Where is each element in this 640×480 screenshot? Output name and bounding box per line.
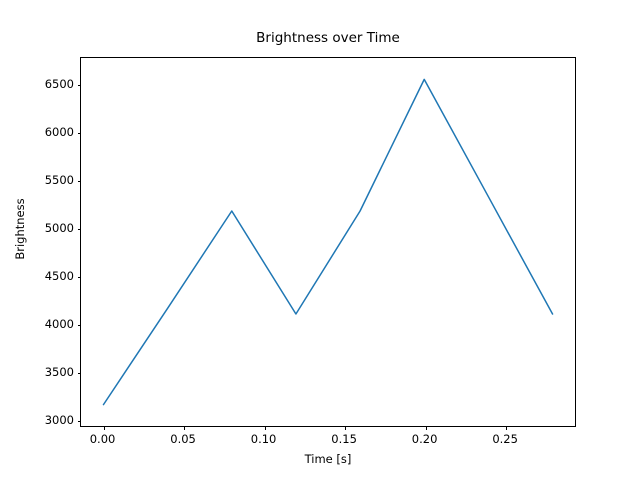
y-tick-label: 3000 [45, 413, 74, 427]
y-tick-label: 6000 [45, 125, 74, 139]
x-tick-label: 0.10 [251, 432, 277, 446]
x-tick-mark [506, 426, 507, 430]
line-chart-svg [81, 58, 575, 426]
y-tick-label: 4500 [45, 269, 74, 283]
y-tick-mark [78, 229, 82, 230]
x-tick-mark [104, 426, 105, 430]
y-tick-mark [78, 373, 82, 374]
y-tick-label: 3500 [45, 365, 74, 379]
y-tick-mark [78, 181, 82, 182]
y-tick-label: 6500 [45, 77, 74, 91]
x-tick-label: 0.05 [170, 432, 196, 446]
x-tick-mark [184, 426, 185, 430]
x-tick-mark [345, 426, 346, 430]
x-tick-mark [426, 426, 427, 430]
x-axis-tick-labels: 0.000.050.100.150.200.25 [80, 432, 576, 448]
x-tick-mark [265, 426, 266, 430]
y-tick-label: 4000 [45, 317, 74, 331]
y-tick-mark [78, 85, 82, 86]
x-tick-label: 0.00 [90, 432, 116, 446]
y-tick-mark [78, 421, 82, 422]
plot-area [80, 57, 576, 427]
x-tick-label: 0.25 [492, 432, 518, 446]
y-tick-label: 5000 [45, 221, 74, 235]
y-tick-mark [78, 325, 82, 326]
x-tick-label: 0.15 [331, 432, 357, 446]
figure-canvas: Brightness over Time 3000350040004500500… [0, 0, 640, 480]
y-axis-label: Brightness [13, 169, 27, 289]
chart-title: Brightness over Time [80, 30, 576, 46]
y-tick-label: 5500 [45, 173, 74, 187]
data-series-line [103, 79, 552, 404]
x-tick-label: 0.20 [412, 432, 438, 446]
y-tick-mark [78, 133, 82, 134]
x-axis-label: Time [s] [80, 452, 576, 466]
y-tick-mark [78, 277, 82, 278]
